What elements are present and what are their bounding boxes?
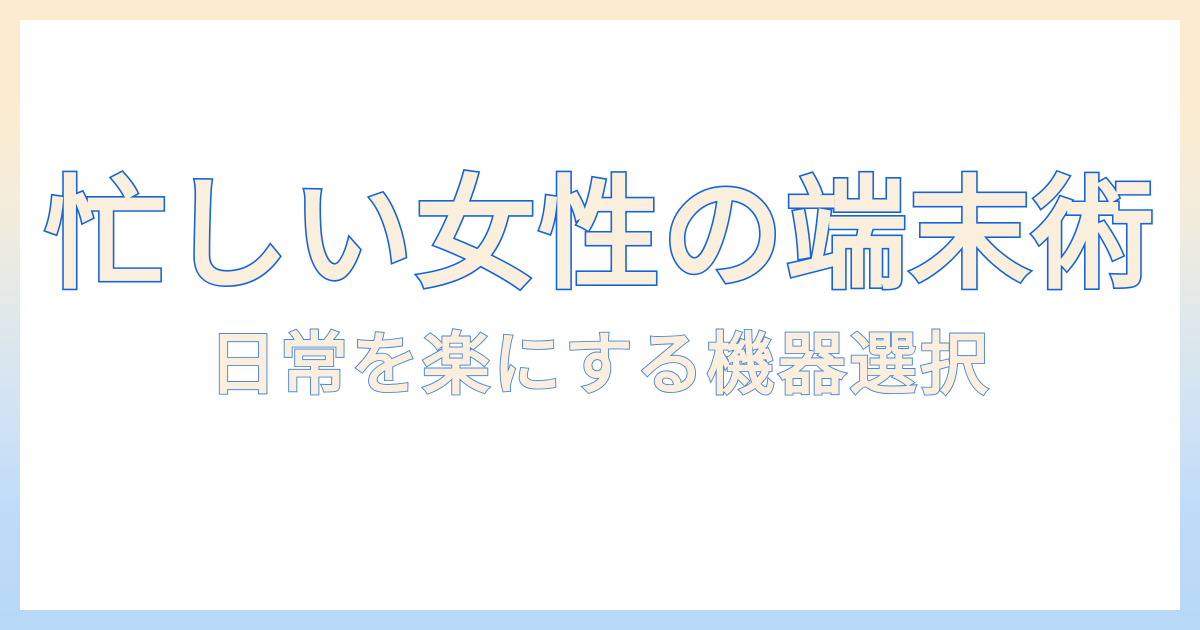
text-block: 忙しい女性の端末術 日常を楽にする機器選択 xyxy=(20,20,1180,610)
page-title: 忙しい女性の端末術 xyxy=(44,174,1155,296)
thumbnail-canvas: 忙しい女性の端末術 日常を楽にする機器選択 xyxy=(0,0,1200,630)
page-subtitle: 日常を楽にする機器選択 xyxy=(209,332,991,400)
white-content-card: 忙しい女性の端末術 日常を楽にする機器選択 xyxy=(20,20,1180,610)
